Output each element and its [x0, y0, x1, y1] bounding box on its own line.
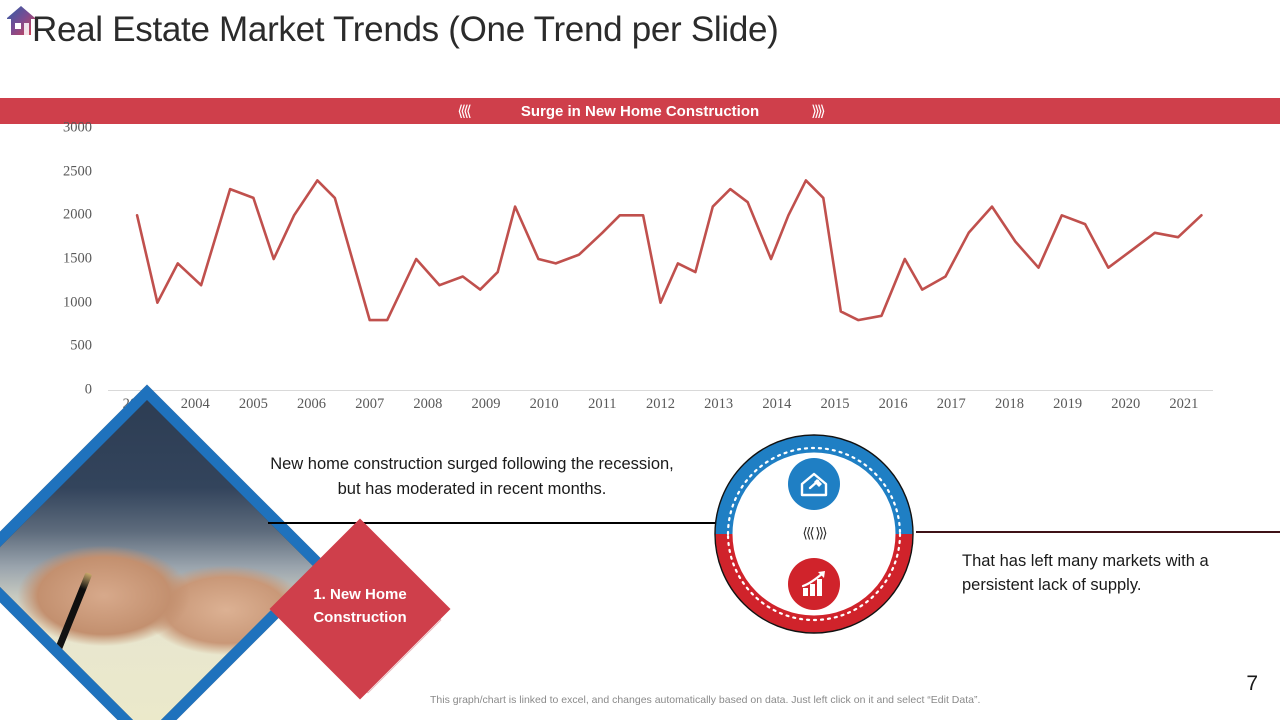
- line-chart[interactable]: 050010001500200025003000 200320042005200…: [0, 128, 1230, 418]
- x-axis-tick: 2009: [472, 396, 501, 413]
- x-axis-tick: 2020: [1111, 396, 1140, 413]
- label-diamond-text: 1. New Home Construction: [292, 584, 428, 629]
- y-axis-tick: 500: [70, 338, 92, 355]
- x-axis-tick: 2013: [704, 396, 733, 413]
- x-axis-tick: 2008: [413, 396, 442, 413]
- page-number: 7: [1246, 672, 1258, 696]
- x-axis-tick: 2014: [762, 396, 791, 413]
- center-description: New home construction surged following t…: [262, 452, 682, 502]
- badge-chevrons-icon: ⟨⟨⟨ ⟩⟩⟩: [710, 526, 918, 542]
- x-axis-tick: 2012: [646, 396, 675, 413]
- x-axis-tick: 2015: [820, 396, 849, 413]
- y-axis-tick: 0: [85, 382, 92, 399]
- right-connector-line: [916, 531, 1280, 533]
- banner-right-chevrons-icon[interactable]: ⟩⟩⟩⟩: [811, 104, 822, 119]
- banner-left-chevrons-icon[interactable]: ⟨⟨⟨⟨: [457, 104, 468, 119]
- y-axis-tick: 3000: [63, 120, 92, 137]
- page-title: Real Estate Market Trends (One Trend per…: [32, 10, 779, 50]
- footer-note: This graph/chart is linked to excel, and…: [430, 694, 1090, 706]
- signing-document-photo: [0, 385, 329, 720]
- chart-x-axis-line: [108, 390, 1213, 391]
- x-axis-tick: 2018: [995, 396, 1024, 413]
- x-axis-tick: 2006: [297, 396, 326, 413]
- chart-y-axis: 050010001500200025003000: [0, 128, 100, 390]
- y-axis-tick: 2000: [63, 207, 92, 224]
- x-axis-tick: 2021: [1169, 396, 1198, 413]
- x-axis-tick: 2005: [239, 396, 268, 413]
- chart-x-axis: 2003200420052006200720082009201020112012…: [108, 396, 1213, 422]
- right-description: That has left many markets with a persis…: [962, 550, 1272, 598]
- banner-title: Surge in New Home Construction: [521, 103, 759, 120]
- house-hammer-icon: [788, 458, 840, 510]
- pen-shape: [41, 572, 92, 686]
- x-axis-tick: 2010: [530, 396, 559, 413]
- x-axis-tick: 2007: [355, 396, 384, 413]
- circular-badge: ⟨⟨⟨ ⟩⟩⟩: [710, 430, 918, 638]
- x-axis-tick: 2011: [588, 396, 616, 413]
- section-banner: ⟨⟨⟨⟨ Surge in New Home Construction ⟩⟩⟩⟩: [0, 98, 1280, 124]
- bar-chart-growth-icon: [788, 558, 840, 610]
- x-axis-tick: 2017: [937, 396, 966, 413]
- slide: Real Estate Market Trends (One Trend per…: [0, 0, 1280, 720]
- chart-series-line: [137, 180, 1201, 320]
- y-axis-tick: 2500: [63, 163, 92, 180]
- y-axis-tick: 1000: [63, 294, 92, 311]
- y-axis-tick: 1500: [63, 251, 92, 268]
- x-axis-tick: 2019: [1053, 396, 1082, 413]
- center-connector-line: [268, 522, 720, 524]
- x-axis-tick: 2004: [181, 396, 210, 413]
- x-axis-tick: 2016: [879, 396, 908, 413]
- chart-plot-area: [108, 128, 1213, 390]
